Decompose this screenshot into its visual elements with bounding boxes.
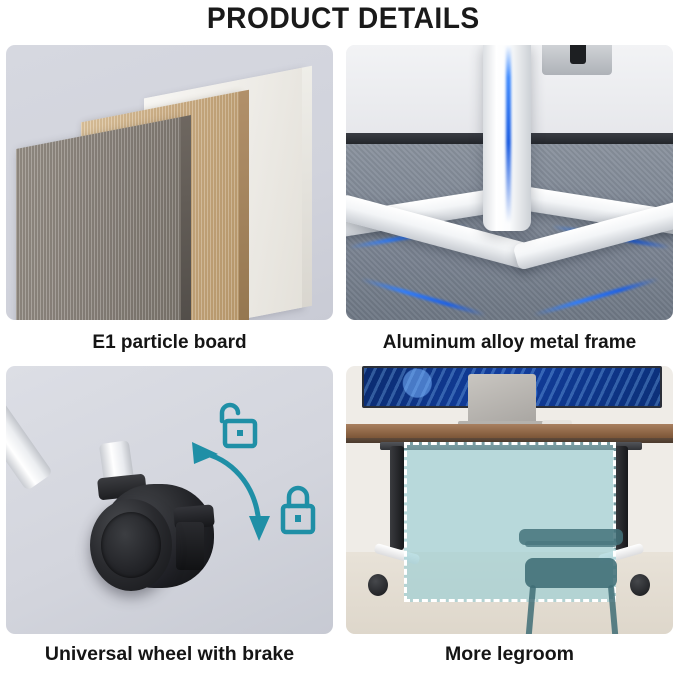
board-wood-edge	[239, 90, 249, 320]
universal-wheel-image	[6, 366, 333, 634]
curved-double-arrow-icon	[199, 452, 259, 524]
chair-strut	[525, 541, 617, 547]
board-white-edge	[302, 66, 312, 308]
caption-more-legroom: More legroom	[346, 634, 673, 673]
detail-cell-particle-board: E1 particle board	[6, 45, 333, 366]
desk-leg-left	[390, 446, 404, 550]
aluminum-frame-image	[346, 45, 673, 320]
caption-universal-wheel: Universal wheel with brake	[6, 634, 333, 673]
laptop	[468, 374, 536, 422]
particle-board-image	[6, 45, 333, 320]
board-gray	[16, 117, 181, 320]
detail-cell-universal-wheel: Universal wheel with brake	[6, 366, 333, 673]
desk-top	[346, 424, 673, 438]
desk-caster-left	[368, 574, 388, 596]
chair-seat	[525, 558, 617, 588]
unlock-icon	[222, 405, 255, 446]
arrow-head-unlock	[192, 442, 218, 464]
product-details-infographic: PRODUCT DETAILS E1 particle board	[0, 0, 679, 673]
legroom-highlight-area	[404, 442, 616, 602]
caption-particle-board: E1 particle board	[6, 320, 333, 366]
led-glow-column	[506, 45, 511, 223]
details-grid: E1 particle board Aluminum al	[6, 45, 673, 673]
page-title: PRODUCT DETAILS	[20, 2, 658, 36]
desk-caster-right	[630, 574, 650, 596]
detail-cell-aluminum-frame: Aluminum alloy metal frame	[346, 45, 673, 366]
monitor-slot	[570, 45, 586, 64]
caption-aluminum-frame: Aluminum alloy metal frame	[346, 320, 673, 366]
lock-indicator-group	[6, 366, 333, 634]
board-gray-face	[16, 117, 181, 320]
more-legroom-image	[346, 366, 673, 634]
board-gray-edge	[181, 115, 191, 320]
lock-icon	[283, 488, 313, 532]
arrow-head-lock	[249, 516, 270, 541]
detail-cell-more-legroom: More legroom	[346, 366, 673, 673]
